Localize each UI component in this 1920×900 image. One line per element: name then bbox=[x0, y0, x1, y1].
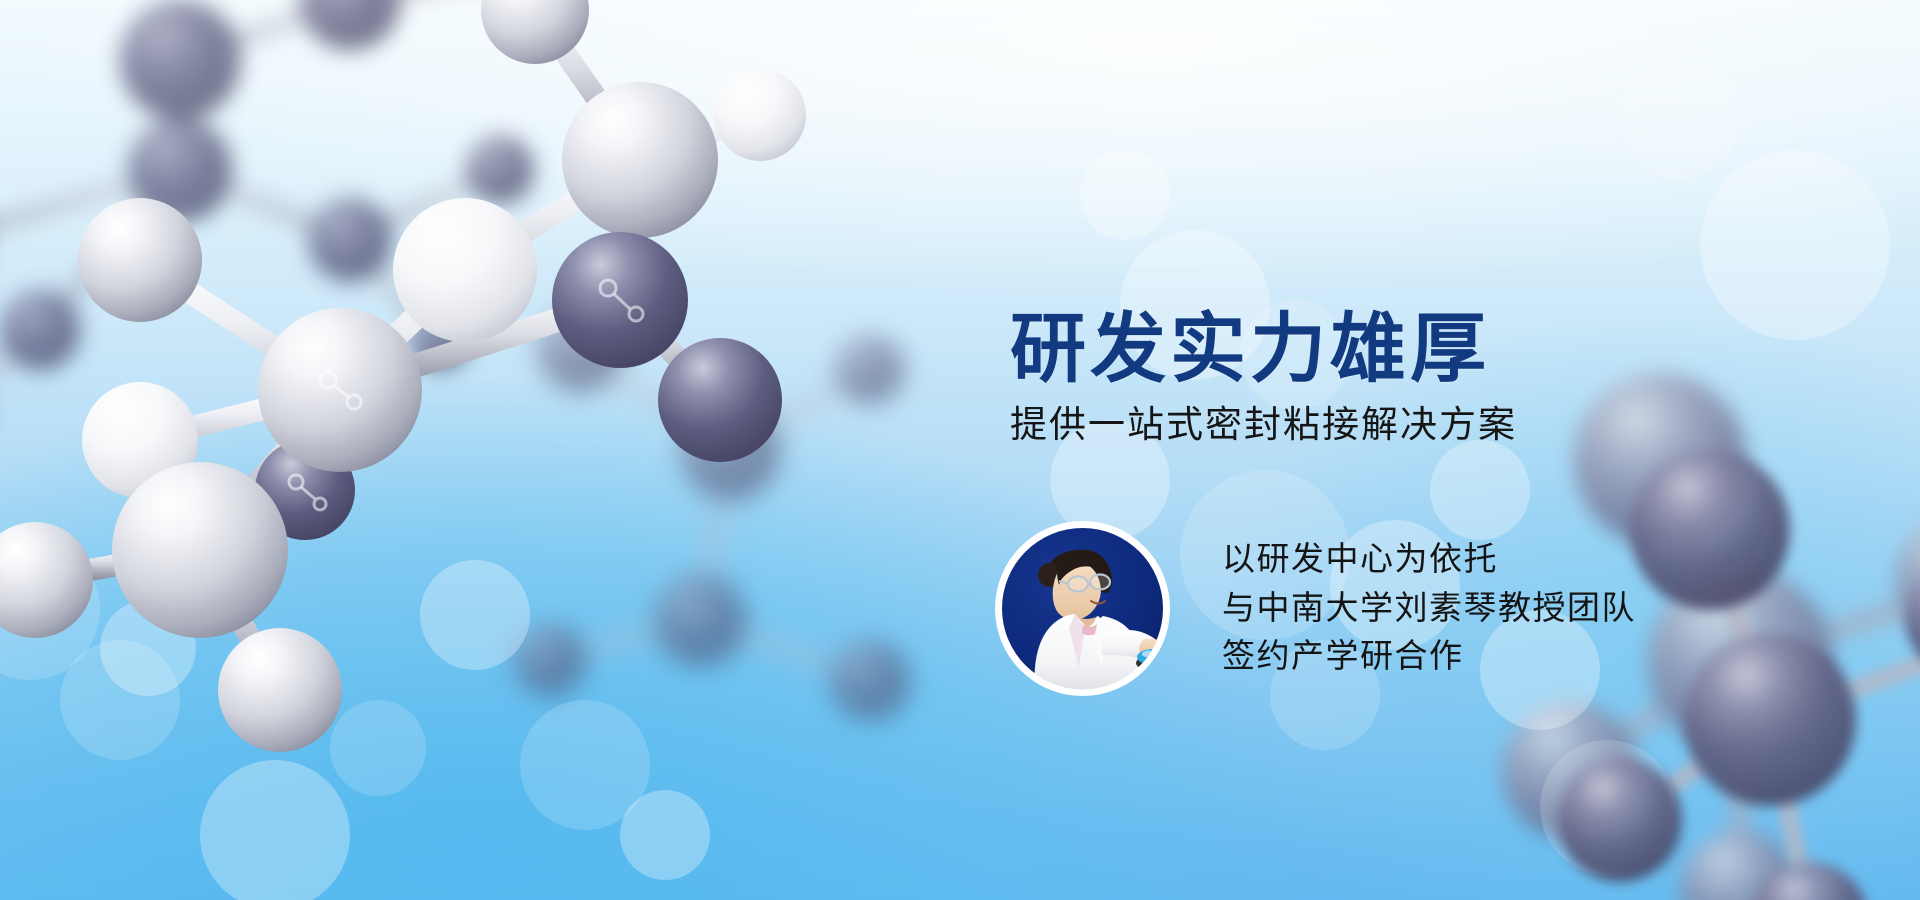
list-item: 签约产学研合作 bbox=[1222, 632, 1636, 681]
avatar bbox=[995, 521, 1170, 696]
list-item: 与中南大学刘素琴教授团队 bbox=[1222, 584, 1636, 633]
bokeh-circle bbox=[420, 560, 530, 670]
background-molecule-center bbox=[400, 230, 1020, 750]
background-highlight-top bbox=[0, 0, 1920, 300]
background-molecule-topleft bbox=[0, 0, 640, 460]
bokeh-circle bbox=[520, 700, 650, 830]
bokeh-circle bbox=[1080, 150, 1170, 240]
list-item: 以研发中心为依托 bbox=[1222, 535, 1636, 584]
bokeh-circle bbox=[200, 760, 350, 900]
page-subtitle: 提供一站式密封粘接解决方案 bbox=[1010, 404, 1630, 447]
bokeh-circle bbox=[330, 700, 426, 796]
hero-banner: 研发实力雄厚 提供一站式密封粘接解决方案 bbox=[0, 0, 1920, 900]
bokeh-circle bbox=[620, 790, 710, 880]
bokeh-circle bbox=[1620, 60, 1740, 180]
foreground-molecule-model bbox=[0, 0, 960, 900]
bokeh-circle bbox=[1540, 740, 1675, 875]
hero-copy: 研发实力雄厚 提供一站式密封粘接解决方案 bbox=[1010, 312, 1630, 447]
bokeh-circle bbox=[60, 640, 180, 760]
bokeh-circle bbox=[1700, 150, 1890, 340]
page-title: 研发实力雄厚 bbox=[1010, 312, 1630, 388]
credentials-block: 以研发中心为依托 与中南大学刘素琴教授团队 签约产学研合作 bbox=[995, 515, 1636, 696]
bokeh-circle bbox=[0, 540, 100, 680]
credentials-list: 以研发中心为依托 与中南大学刘素琴教授团队 签约产学研合作 bbox=[1222, 515, 1636, 681]
scientist-photo-icon bbox=[995, 521, 1170, 696]
bokeh-circle bbox=[100, 600, 196, 696]
